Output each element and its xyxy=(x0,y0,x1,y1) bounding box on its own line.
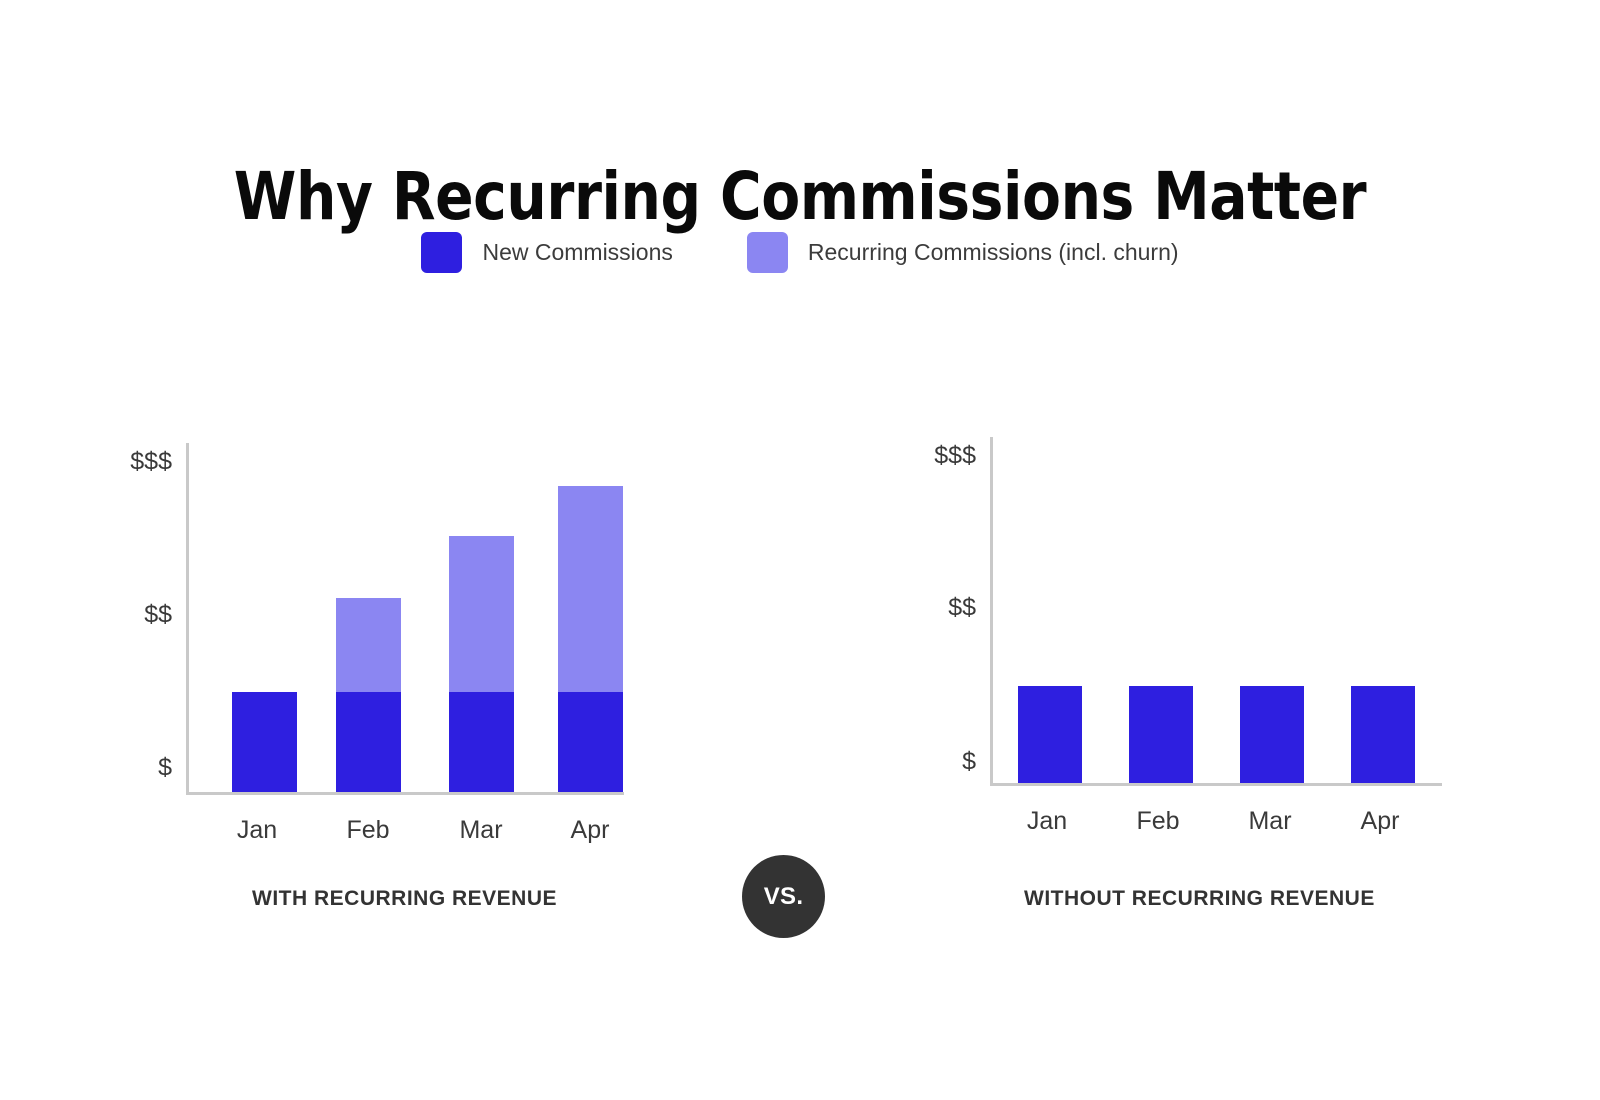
x-tick-label-right-feb: Feb xyxy=(1136,809,1179,834)
x-tick-label-left-feb: Feb xyxy=(346,818,389,843)
bar-group-right-apr[interactable] xyxy=(1351,686,1415,783)
bar-segment-recurring-left-apr xyxy=(558,486,623,692)
bar-segment-new-left-jan xyxy=(232,692,297,792)
bar-group-right-feb[interactable] xyxy=(1129,686,1193,783)
y-tick-label-left-1: $$ xyxy=(144,603,172,628)
y-tick-label-right-0: $$$ xyxy=(934,444,976,469)
plot-area-without-recurring-revenue: $$$ $$ $ Jan Feb Mar A xyxy=(990,437,1440,786)
bar-segment-new-right-apr xyxy=(1351,686,1415,783)
bar-group-left-jan[interactable] xyxy=(232,692,297,792)
chart-panel-with-recurring-revenue: $$$ $$ $ Jan Feb Mar A xyxy=(0,0,800,1100)
y-tick-label-left-0: $$$ xyxy=(130,450,172,475)
bar-group-left-mar[interactable] xyxy=(449,536,514,792)
bar-group-right-jan[interactable] xyxy=(1018,686,1082,783)
panel-caption-with-recurring-revenue: WITH RECURRING REVENUE xyxy=(252,888,557,909)
bar-segment-new-right-jan xyxy=(1018,686,1082,783)
bar-segment-new-left-feb xyxy=(336,692,401,792)
plot-area-with-recurring-revenue: $$$ $$ $ Jan Feb Mar A xyxy=(186,443,622,795)
bar-group-left-apr[interactable] xyxy=(558,486,623,792)
x-tick-label-right-jan: Jan xyxy=(1027,809,1067,834)
y-tick-label-right-2: $ xyxy=(962,750,976,775)
bar-segment-new-right-feb xyxy=(1129,686,1193,783)
panel-caption-without-recurring-revenue: WITHOUT RECURRING REVENUE xyxy=(1024,888,1375,909)
bar-segment-recurring-left-feb xyxy=(336,598,401,692)
vs-badge: VS. xyxy=(742,855,825,938)
y-tick-label-right-1: $$ xyxy=(948,596,976,621)
y-tick-label-left-2: $ xyxy=(158,756,172,781)
x-tick-label-right-mar: Mar xyxy=(1248,809,1291,834)
bar-series-right xyxy=(990,437,1440,783)
x-axis-line-left xyxy=(186,792,624,795)
bar-group-left-feb[interactable] xyxy=(336,598,401,792)
x-tick-label-left-jan: Jan xyxy=(237,818,277,843)
bar-segment-recurring-left-mar xyxy=(449,536,514,692)
x-tick-label-right-apr: Apr xyxy=(1361,809,1400,834)
bar-segment-new-left-apr xyxy=(558,692,623,792)
x-tick-label-left-apr: Apr xyxy=(571,818,610,843)
bar-group-right-mar[interactable] xyxy=(1240,686,1304,783)
x-tick-label-left-mar: Mar xyxy=(459,818,502,843)
x-axis-line-right xyxy=(990,783,1442,786)
chart-panel-without-recurring-revenue: $$$ $$ $ Jan Feb Mar A xyxy=(800,0,1600,1100)
bar-segment-new-right-mar xyxy=(1240,686,1304,783)
vs-badge-label: VS. xyxy=(764,885,804,909)
bar-segment-new-left-mar xyxy=(449,692,514,792)
bar-series-left xyxy=(186,443,622,792)
